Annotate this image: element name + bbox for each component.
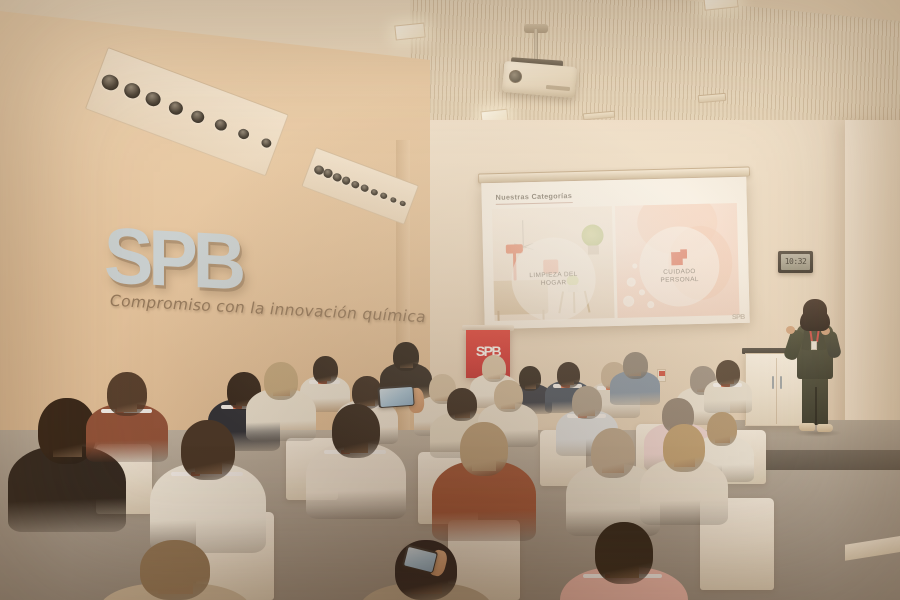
presenter-shoe-right xyxy=(817,424,833,432)
attendee-head xyxy=(494,380,523,412)
lamp-pole xyxy=(522,220,524,248)
plant-foliage xyxy=(581,224,604,247)
digital-wall-clock: 10:32 xyxy=(778,251,813,273)
presenter-hand-left xyxy=(786,326,795,334)
phone-screen[interactable] xyxy=(379,386,413,406)
attendee-front-7 xyxy=(432,422,536,556)
attendee-head xyxy=(264,362,298,400)
attendee-head xyxy=(623,352,648,379)
cabinet-door-split xyxy=(776,358,777,424)
attendee-front-6 xyxy=(306,404,406,534)
slide-title: Nuestras Categorías xyxy=(495,191,572,205)
attendee-head xyxy=(482,355,506,382)
bubble-3 xyxy=(623,296,634,307)
slide-title-plain: Nuestras xyxy=(495,192,531,202)
bubble-2 xyxy=(639,289,645,295)
attendee-front-9 xyxy=(640,424,728,538)
projector-pole xyxy=(534,29,538,61)
attendee-front-10 xyxy=(100,540,250,600)
attendee-front-11 xyxy=(560,522,688,600)
attendee-head xyxy=(140,540,210,600)
personal-care-icon xyxy=(671,249,687,265)
attendee-head xyxy=(393,342,419,371)
slide: Nuestras Categorías xyxy=(481,177,749,329)
bubble-5 xyxy=(632,263,637,268)
attendee-head xyxy=(181,420,235,480)
sofa-leg-left xyxy=(497,311,499,321)
category-label-line2: HOGAR xyxy=(541,279,567,287)
sq-light-1-icon xyxy=(394,22,425,40)
slide-corner-brand: SPB xyxy=(732,314,745,321)
leg-split xyxy=(815,387,817,425)
attendee-head xyxy=(716,360,740,387)
cabinet-handle-left[interactable] xyxy=(772,376,774,389)
attendee-head xyxy=(572,386,602,419)
presenter-hair xyxy=(803,299,827,327)
projection-screen: Nuestras Categorías xyxy=(481,177,749,329)
slide-title-bold: Categorías xyxy=(531,191,572,201)
presenter-trousers xyxy=(802,373,828,425)
attendee-head xyxy=(591,428,635,478)
plant-pot xyxy=(588,245,599,254)
attendee-head xyxy=(595,522,653,584)
attendee-head xyxy=(332,404,380,458)
clock-display: 10:32 xyxy=(781,254,810,270)
attendee-head xyxy=(557,362,580,388)
presenter-shoe-left xyxy=(799,423,815,431)
presenter-badge xyxy=(811,341,817,350)
presenter xyxy=(786,299,842,445)
bubble-4 xyxy=(647,301,654,308)
cabinet-handle-right[interactable] xyxy=(780,376,782,389)
bubble-1 xyxy=(627,278,636,287)
phone-photographing-screen[interactable] xyxy=(377,385,414,408)
attendee-head xyxy=(447,388,477,421)
attendee-head xyxy=(107,372,147,416)
category-label-line2: PERSONAL xyxy=(660,275,699,284)
attendee-head xyxy=(460,422,508,476)
conference-room-photo: SPB Compromiso con la innovación química… xyxy=(0,0,900,600)
attendee-head xyxy=(663,424,705,472)
attendee-head xyxy=(313,356,338,384)
